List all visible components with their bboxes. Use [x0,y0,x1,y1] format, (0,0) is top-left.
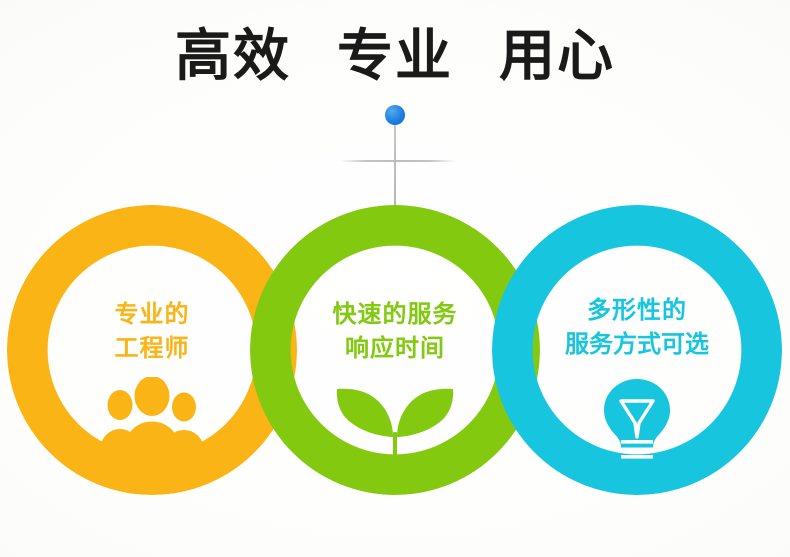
blue-dot-icon [385,105,405,125]
caption-service-options: 多形性的 服务方式可选 [492,293,782,361]
caption-service-options-line1: 多形性的 [492,293,782,327]
infographic-canvas: 高效专业用心 专业的 工程师 [0,0,790,557]
green-dot-icon [386,150,406,170]
title-word-1: 高效 [175,26,291,88]
title-word-2: 专业 [337,26,453,88]
caption-service-options-line2: 服务方式可选 [492,327,782,361]
title-word-3: 用心 [499,26,615,88]
venn-content-service-options: 多形性的 服务方式可选 [492,205,782,495]
lightbulb-icon [492,377,782,463]
page-title: 高效专业用心 [0,26,790,88]
